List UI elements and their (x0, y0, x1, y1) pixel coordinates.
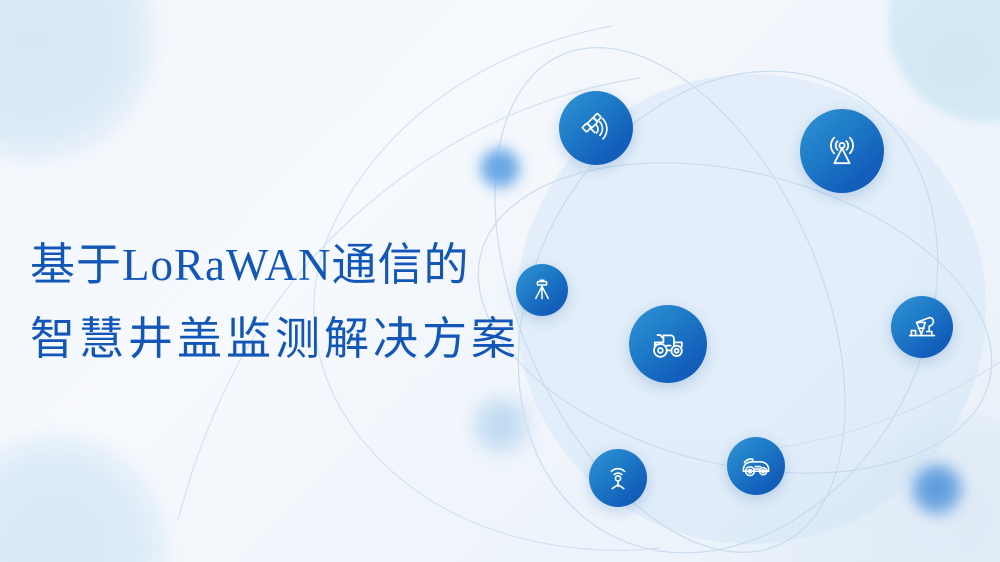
tractor-icon (646, 322, 690, 366)
accent-dot-lower-right (908, 460, 966, 518)
title-line-2: 智慧井盖监测解决方案 (30, 302, 570, 376)
node-oil-pumpjack[interactable] (891, 296, 953, 358)
accent-dot-upper (476, 144, 524, 192)
node-satellite[interactable] (559, 91, 633, 165)
survey-tripod-icon (528, 276, 556, 304)
antenna-tower-icon (819, 128, 865, 174)
background-blob-top-right (888, 0, 1000, 122)
node-mowing-robot[interactable] (727, 437, 785, 495)
wireless-sensor-icon (602, 462, 634, 494)
title-line-1: 基于LoRaWAN通信的 (30, 228, 570, 302)
node-survey-tripod[interactable] (516, 264, 568, 316)
page-title: 基于LoRaWAN通信的 智慧井盖监测解决方案 (30, 228, 570, 376)
oil-pumpjack-icon (905, 310, 939, 344)
background-blob-top-left (0, 0, 158, 164)
mowing-robot-icon (739, 449, 773, 483)
node-wireless-sensor[interactable] (589, 449, 647, 507)
accent-dot-lower-left (468, 392, 534, 458)
node-antenna-tower[interactable] (800, 109, 884, 193)
background-blob-bottom-right (846, 416, 1000, 562)
slide-canvas: 基于LoRaWAN通信的 智慧井盖监测解决方案 (0, 0, 1000, 562)
background-blob-bottom-left (0, 432, 170, 562)
satellite-icon (576, 108, 616, 148)
node-tractor[interactable] (629, 305, 707, 383)
